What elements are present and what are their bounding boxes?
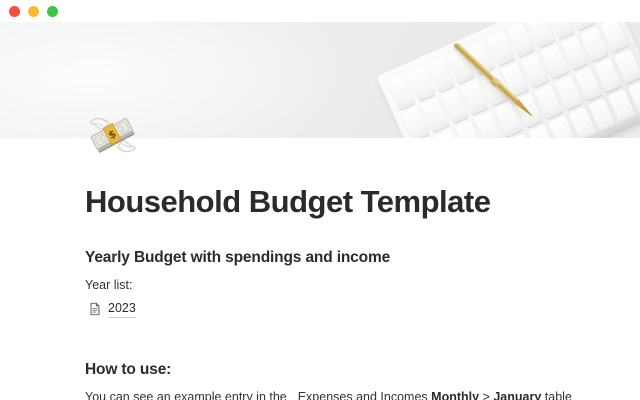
window-titlebar (0, 0, 640, 22)
page-content: Household Budget Template Yearly Budget … (0, 138, 640, 400)
section-heading-yearly-budget[interactable]: Yearly Budget with spendings and income (85, 220, 600, 267)
paragraph-part-3: table (545, 390, 572, 400)
traffic-lights (9, 6, 58, 17)
maximize-button[interactable] (47, 6, 58, 17)
paragraph-part-2: Expenses and Incomes (298, 390, 428, 400)
close-button[interactable] (9, 6, 20, 17)
paragraph-part-1: You can see an example entry in the (85, 390, 287, 400)
app-window: $ Household Budget Template Yearly Budge… (0, 0, 640, 400)
paragraph-bold-monthly: Monthly (431, 390, 479, 400)
how-to-use-paragraph: You can see an example entry in the Expe… (85, 379, 600, 400)
section-heading-how-to-use[interactable]: How to use: (85, 318, 600, 379)
minimize-button[interactable] (28, 6, 39, 17)
page-title[interactable]: Household Budget Template (85, 138, 600, 220)
paragraph-bold-january: January (493, 390, 541, 400)
page-link-label[interactable]: 2023 (108, 301, 136, 318)
document-icon (88, 302, 102, 316)
paragraph-separator: > (483, 390, 490, 400)
cover-light-gradient (0, 22, 384, 138)
page-link-2023[interactable]: 2023 (85, 294, 600, 318)
year-list-label: Year list: (85, 267, 600, 294)
money-with-wings-icon[interactable]: $ (85, 108, 141, 164)
